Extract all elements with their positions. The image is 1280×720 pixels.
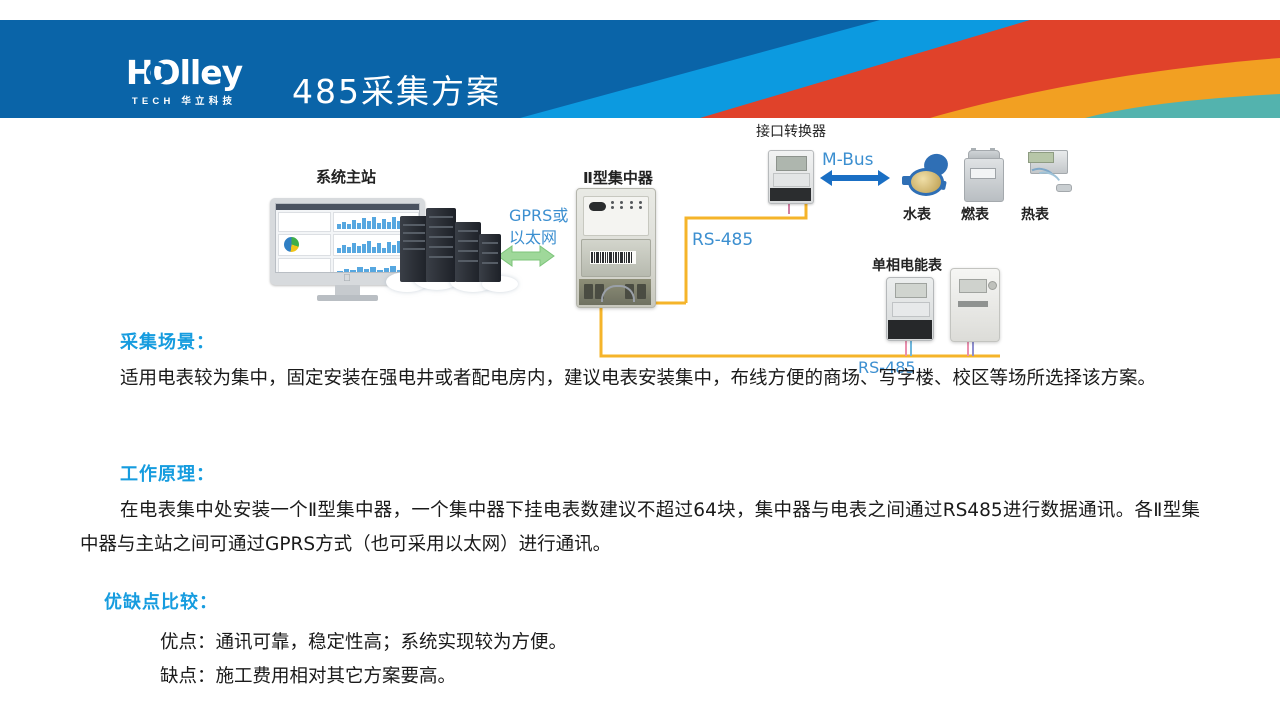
meter-button bbox=[988, 281, 997, 290]
label-interface-converter: 接口转换器 bbox=[756, 121, 826, 141]
section-body-scenario: 适用电表较为集中，固定安装在强电井或者配电房内，建议电表安装集中，布线方便的商场… bbox=[80, 362, 1200, 396]
converter-lcd bbox=[776, 156, 807, 171]
cons-line: 缺点：施工费用相对其它方案要高。 bbox=[160, 662, 456, 688]
server-rack bbox=[426, 208, 456, 282]
converter-terminal bbox=[770, 188, 811, 201]
apple-logo-icon:  bbox=[343, 274, 351, 283]
concentrator-module bbox=[581, 239, 651, 277]
section-heading-principle: 工作原理： bbox=[120, 460, 215, 486]
label-heat-meter: 热表 bbox=[1021, 204, 1049, 224]
label-master-station: 系统主站 bbox=[316, 166, 376, 187]
meter-lcd bbox=[959, 279, 987, 293]
logo-subtext: TECH 华立科技 bbox=[108, 93, 260, 107]
section-heading-proscons: 优缺点比较： bbox=[104, 588, 218, 614]
gas-meter-register bbox=[970, 168, 996, 179]
gas-meter-device bbox=[962, 148, 1004, 200]
server-rack bbox=[400, 216, 428, 282]
logo-o-ring bbox=[146, 62, 168, 84]
water-meter-dial bbox=[908, 168, 944, 196]
dashboard-card bbox=[278, 212, 331, 232]
converter-panel bbox=[773, 173, 810, 187]
water-meter-device bbox=[902, 154, 948, 200]
label-water-meter: 水表 bbox=[903, 204, 931, 224]
meter-terminal-cover bbox=[888, 320, 932, 339]
dashboard-card bbox=[278, 234, 331, 256]
label-single-phase-meter: 单相电能表 bbox=[872, 255, 942, 275]
label-gas-meter: 燃表 bbox=[961, 204, 989, 224]
label-gprs-line1: GPRS或 bbox=[509, 202, 568, 226]
dashboard-card bbox=[278, 258, 331, 273]
interface-converter-device bbox=[768, 150, 814, 204]
led-indicator-grid bbox=[611, 201, 645, 209]
concentrator-terminal-block bbox=[579, 279, 651, 305]
label-rs485-top: RS-485 bbox=[692, 230, 753, 250]
section-heading-scenario: 采集场景： bbox=[120, 328, 215, 354]
barcode-label bbox=[590, 251, 636, 264]
meter-lcd bbox=[895, 283, 927, 298]
heat-meter-device bbox=[1022, 148, 1074, 200]
concentrator-front-panel bbox=[583, 196, 649, 236]
label-gprs-line2: 以太网 bbox=[509, 224, 557, 248]
pros-line: 优点：通讯可靠，稳定性高；系统实现较为方便。 bbox=[160, 628, 567, 654]
server-rack bbox=[479, 234, 501, 282]
holley-logo: HOlley TECH 华立科技 bbox=[108, 56, 260, 107]
server-rack bbox=[455, 222, 481, 282]
single-phase-energy-meter bbox=[886, 277, 934, 341]
gas-meter-body bbox=[964, 158, 1004, 202]
heat-meter-lcd bbox=[1028, 152, 1054, 163]
pie-chart bbox=[284, 237, 299, 252]
type-ii-concentrator bbox=[576, 188, 656, 308]
label-concentrator: Ⅱ型集中器 bbox=[583, 167, 653, 188]
logo-wordmark: HOlley bbox=[108, 56, 260, 90]
page-header: HOlley TECH 华立科技 485采集方案 bbox=[0, 20, 1280, 118]
section-body-principle: 在电表集中处安装一个Ⅱ型集中器，一个集中器下挂电表数建议不超过64块，集中器与电… bbox=[80, 494, 1200, 562]
monitor-stand-base bbox=[317, 295, 378, 301]
concentrator-display bbox=[589, 202, 606, 211]
page-title: 485采集方案 bbox=[292, 65, 501, 113]
mbus-arrow bbox=[820, 170, 890, 186]
label-mbus: M-Bus bbox=[822, 150, 874, 170]
single-phase-energy-meter bbox=[950, 268, 1000, 342]
server-rack-group bbox=[400, 206, 505, 286]
meter-nameplate bbox=[958, 301, 988, 307]
heat-meter-probe bbox=[1056, 184, 1072, 192]
meter-nameplate bbox=[892, 302, 930, 317]
